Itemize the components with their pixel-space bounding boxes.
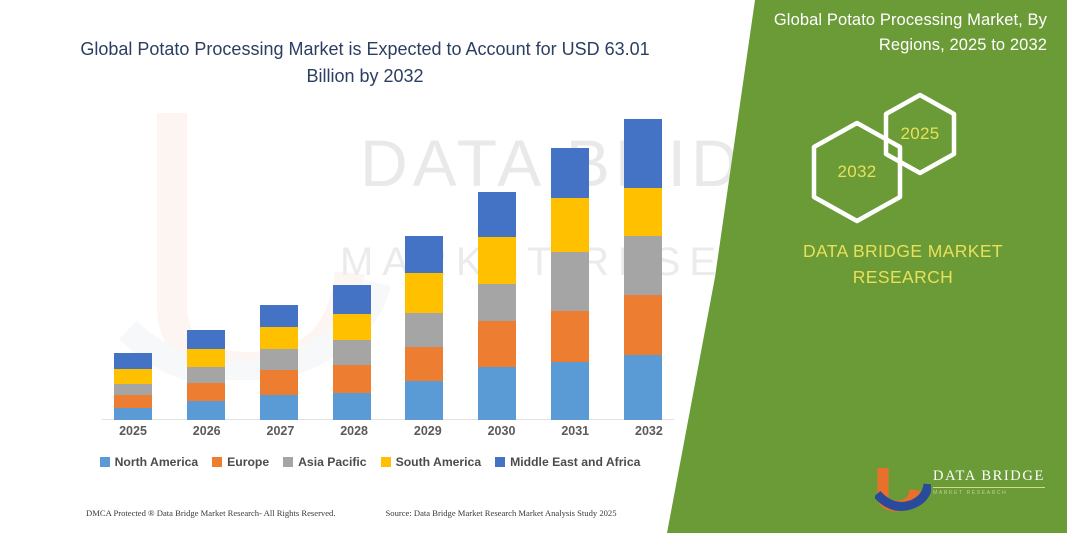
legend-label: Europe — [227, 455, 269, 469]
bar-segment[interactable] — [114, 353, 152, 369]
x-axis-labels: 20252026202720282029203020312032 — [102, 424, 680, 438]
bar-column[interactable] — [175, 100, 237, 420]
x-axis-tick-label: 2029 — [397, 424, 459, 438]
bar-column[interactable] — [248, 100, 310, 420]
x-axis-tick-label: 2031 — [544, 424, 606, 438]
page-title: Global Potato Processing Market is Expec… — [60, 36, 670, 90]
bar-segment[interactable] — [187, 349, 225, 367]
bar-segment[interactable] — [551, 198, 589, 253]
logo-subtitle: MARKET RESEARCH — [933, 490, 1045, 496]
right-brand-panel: Global Potato Processing Market, By Regi… — [667, 0, 1067, 533]
bar-segment[interactable] — [260, 305, 298, 328]
bar-segment[interactable] — [551, 362, 589, 420]
legend-item[interactable]: North America — [100, 455, 199, 469]
bar-segment[interactable] — [405, 381, 443, 420]
bar-segment[interactable] — [405, 236, 443, 273]
bar-segment[interactable] — [114, 384, 152, 395]
bar-segment[interactable] — [478, 284, 516, 321]
bar-segment[interactable] — [624, 119, 662, 188]
brand-name: DATA BRIDGE MARKET RESEARCH — [667, 238, 1067, 290]
legend-item[interactable]: Europe — [212, 455, 269, 469]
bar-segment[interactable] — [187, 367, 225, 383]
bar-segment[interactable] — [333, 285, 371, 314]
bar-segment[interactable] — [187, 401, 225, 420]
legend-swatch-icon — [100, 457, 110, 467]
bar-segment[interactable] — [478, 367, 516, 420]
x-axis-tick-label: 2025 — [102, 424, 164, 438]
bar-segment[interactable] — [478, 321, 516, 368]
bar-chart-plot — [60, 100, 680, 420]
bar-segment[interactable] — [260, 395, 298, 420]
x-axis-tick-label: 2028 — [323, 424, 385, 438]
legend-swatch-icon — [212, 457, 222, 467]
legend-item[interactable]: Middle East and Africa — [495, 455, 640, 469]
bar-segment[interactable] — [187, 383, 225, 401]
footer-copyright: DMCA Protected ® Data Bridge Market Rese… — [86, 508, 336, 518]
legend-label: South America — [396, 455, 482, 469]
bar-segment[interactable] — [624, 295, 662, 354]
logo-divider — [933, 487, 1045, 488]
bar-segment[interactable] — [333, 314, 371, 340]
legend-swatch-icon — [283, 457, 293, 467]
brand-name-line2: RESEARCH — [739, 264, 1067, 290]
bar-segment[interactable] — [551, 252, 589, 310]
bar-segment[interactable] — [551, 148, 589, 198]
brand-name-line1: DATA BRIDGE MARKET — [739, 238, 1067, 264]
x-axis-tick-label: 2026 — [176, 424, 238, 438]
bar-segment[interactable] — [333, 393, 371, 420]
legend-item[interactable]: Asia Pacific — [283, 455, 366, 469]
bar-segment[interactable] — [260, 370, 298, 395]
bar-segment[interactable] — [333, 340, 371, 365]
bar-column[interactable] — [466, 100, 528, 420]
bar-segment[interactable] — [260, 349, 298, 370]
bar-segment[interactable] — [478, 237, 516, 284]
bar-segment[interactable] — [114, 369, 152, 384]
legend-label: North America — [115, 455, 199, 469]
logo-title: DATA BRIDGE — [933, 468, 1045, 485]
logo-text: DATA BRIDGE MARKET RESEARCH — [933, 468, 1045, 496]
hexagon-start-year-label: 2025 — [900, 124, 939, 144]
bar-segment[interactable] — [114, 408, 152, 420]
hexagon-start-year: 2025 — [883, 92, 957, 176]
bar-column[interactable] — [612, 100, 674, 420]
legend-label: Middle East and Africa — [510, 455, 640, 469]
hexagon-group: 2032 2025 — [787, 92, 1057, 202]
bar-segment[interactable] — [551, 311, 589, 362]
infographic-canvas: DATA BRIDGE MARKET RESEARCH Global Potat… — [0, 0, 1067, 533]
chart-legend: North AmericaEuropeAsia PacificSouth Ame… — [60, 455, 680, 469]
bar-column[interactable] — [102, 100, 164, 420]
x-axis-tick-label: 2030 — [471, 424, 533, 438]
bar-segment[interactable] — [405, 347, 443, 381]
legend-item[interactable]: South America — [381, 455, 482, 469]
bar-segment[interactable] — [478, 192, 516, 237]
right-panel-title: Global Potato Processing Market, By Regi… — [727, 8, 1047, 58]
bar-segment[interactable] — [624, 355, 662, 420]
bar-column[interactable] — [539, 100, 601, 420]
bar-segment[interactable] — [333, 365, 371, 392]
bar-segment[interactable] — [624, 236, 662, 295]
bar-segment[interactable] — [187, 330, 225, 349]
bar-segment[interactable] — [260, 327, 298, 349]
bar-segment[interactable] — [624, 188, 662, 236]
bar-segment[interactable] — [405, 313, 443, 347]
legend-swatch-icon — [381, 457, 391, 467]
bar-column[interactable] — [321, 100, 383, 420]
footer-source: Source: Data Bridge Market Research Mark… — [386, 508, 617, 518]
x-axis-tick-label: 2027 — [249, 424, 311, 438]
footer: DMCA Protected ® Data Bridge Market Rese… — [86, 508, 686, 518]
hexagon-end-year-label: 2032 — [837, 162, 876, 182]
bar-group — [102, 100, 674, 420]
data-bridge-mark-icon — [875, 466, 931, 512]
bar-segment[interactable] — [405, 273, 443, 313]
legend-swatch-icon — [495, 457, 505, 467]
x-axis-tick-label: 2032 — [618, 424, 680, 438]
company-logo: DATA BRIDGE MARKET RESEARCH — [875, 466, 1050, 514]
legend-label: Asia Pacific — [298, 455, 366, 469]
bar-column[interactable] — [393, 100, 455, 420]
bar-segment[interactable] — [114, 395, 152, 408]
